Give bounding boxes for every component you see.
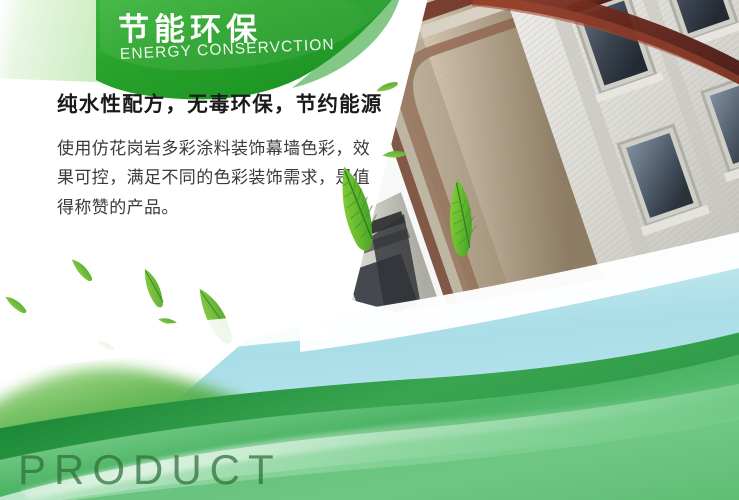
poster-canvas: 节能环保 ENERGY CONSERVCTION 纯水性配方，无毒环保，节约能源… <box>0 0 739 500</box>
product-word: PRODUCT <box>18 449 282 491</box>
white-swoop-divider <box>0 0 739 500</box>
